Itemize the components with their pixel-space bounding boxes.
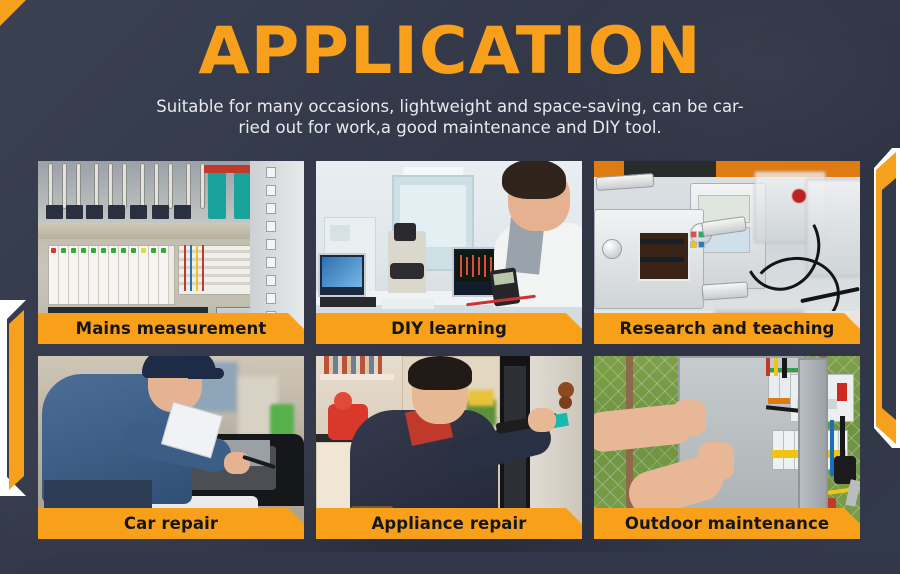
card-label-text: Mains measurement: [76, 319, 267, 338]
application-card[interactable]: Outdoor maintenance: [594, 356, 860, 539]
page-subtitle: Suitable for many occasions, lightweight…: [155, 96, 745, 138]
application-card-grid: Mains measurement: [38, 161, 862, 539]
card-label-text: Outdoor maintenance: [625, 514, 829, 533]
card-label-text: Research and teaching: [620, 319, 835, 338]
card-label-banner: Mains measurement: [38, 313, 304, 344]
card-label-text: Car repair: [124, 514, 218, 533]
page-title: APPLICATION: [0, 0, 900, 84]
header: APPLICATION Suitable for many occasions,…: [0, 0, 900, 138]
application-card[interactable]: Car repair: [38, 356, 304, 539]
application-card[interactable]: Mains measurement: [38, 161, 304, 344]
card-label-banner: Research and teaching: [594, 313, 860, 344]
card-label-text: DIY learning: [391, 319, 507, 338]
subtitle-line-1: Suitable for many occasions, lightweight…: [156, 97, 744, 116]
card-label-banner: Outdoor maintenance: [594, 508, 860, 539]
application-card[interactable]: Research and teaching: [594, 161, 860, 344]
card-label-text: Appliance repair: [372, 514, 527, 533]
application-card[interactable]: Appliance repair: [316, 356, 582, 539]
subtitle-line-2: ried out for work,a good maintenance and…: [155, 117, 745, 138]
application-card[interactable]: DIY learning: [316, 161, 582, 344]
card-label-banner: Appliance repair: [316, 508, 582, 539]
left-orange-rail: [9, 310, 24, 490]
card-label-banner: Car repair: [38, 508, 304, 539]
application-banner: APPLICATION Suitable for many occasions,…: [0, 0, 900, 574]
card-label-banner: DIY learning: [316, 313, 582, 344]
